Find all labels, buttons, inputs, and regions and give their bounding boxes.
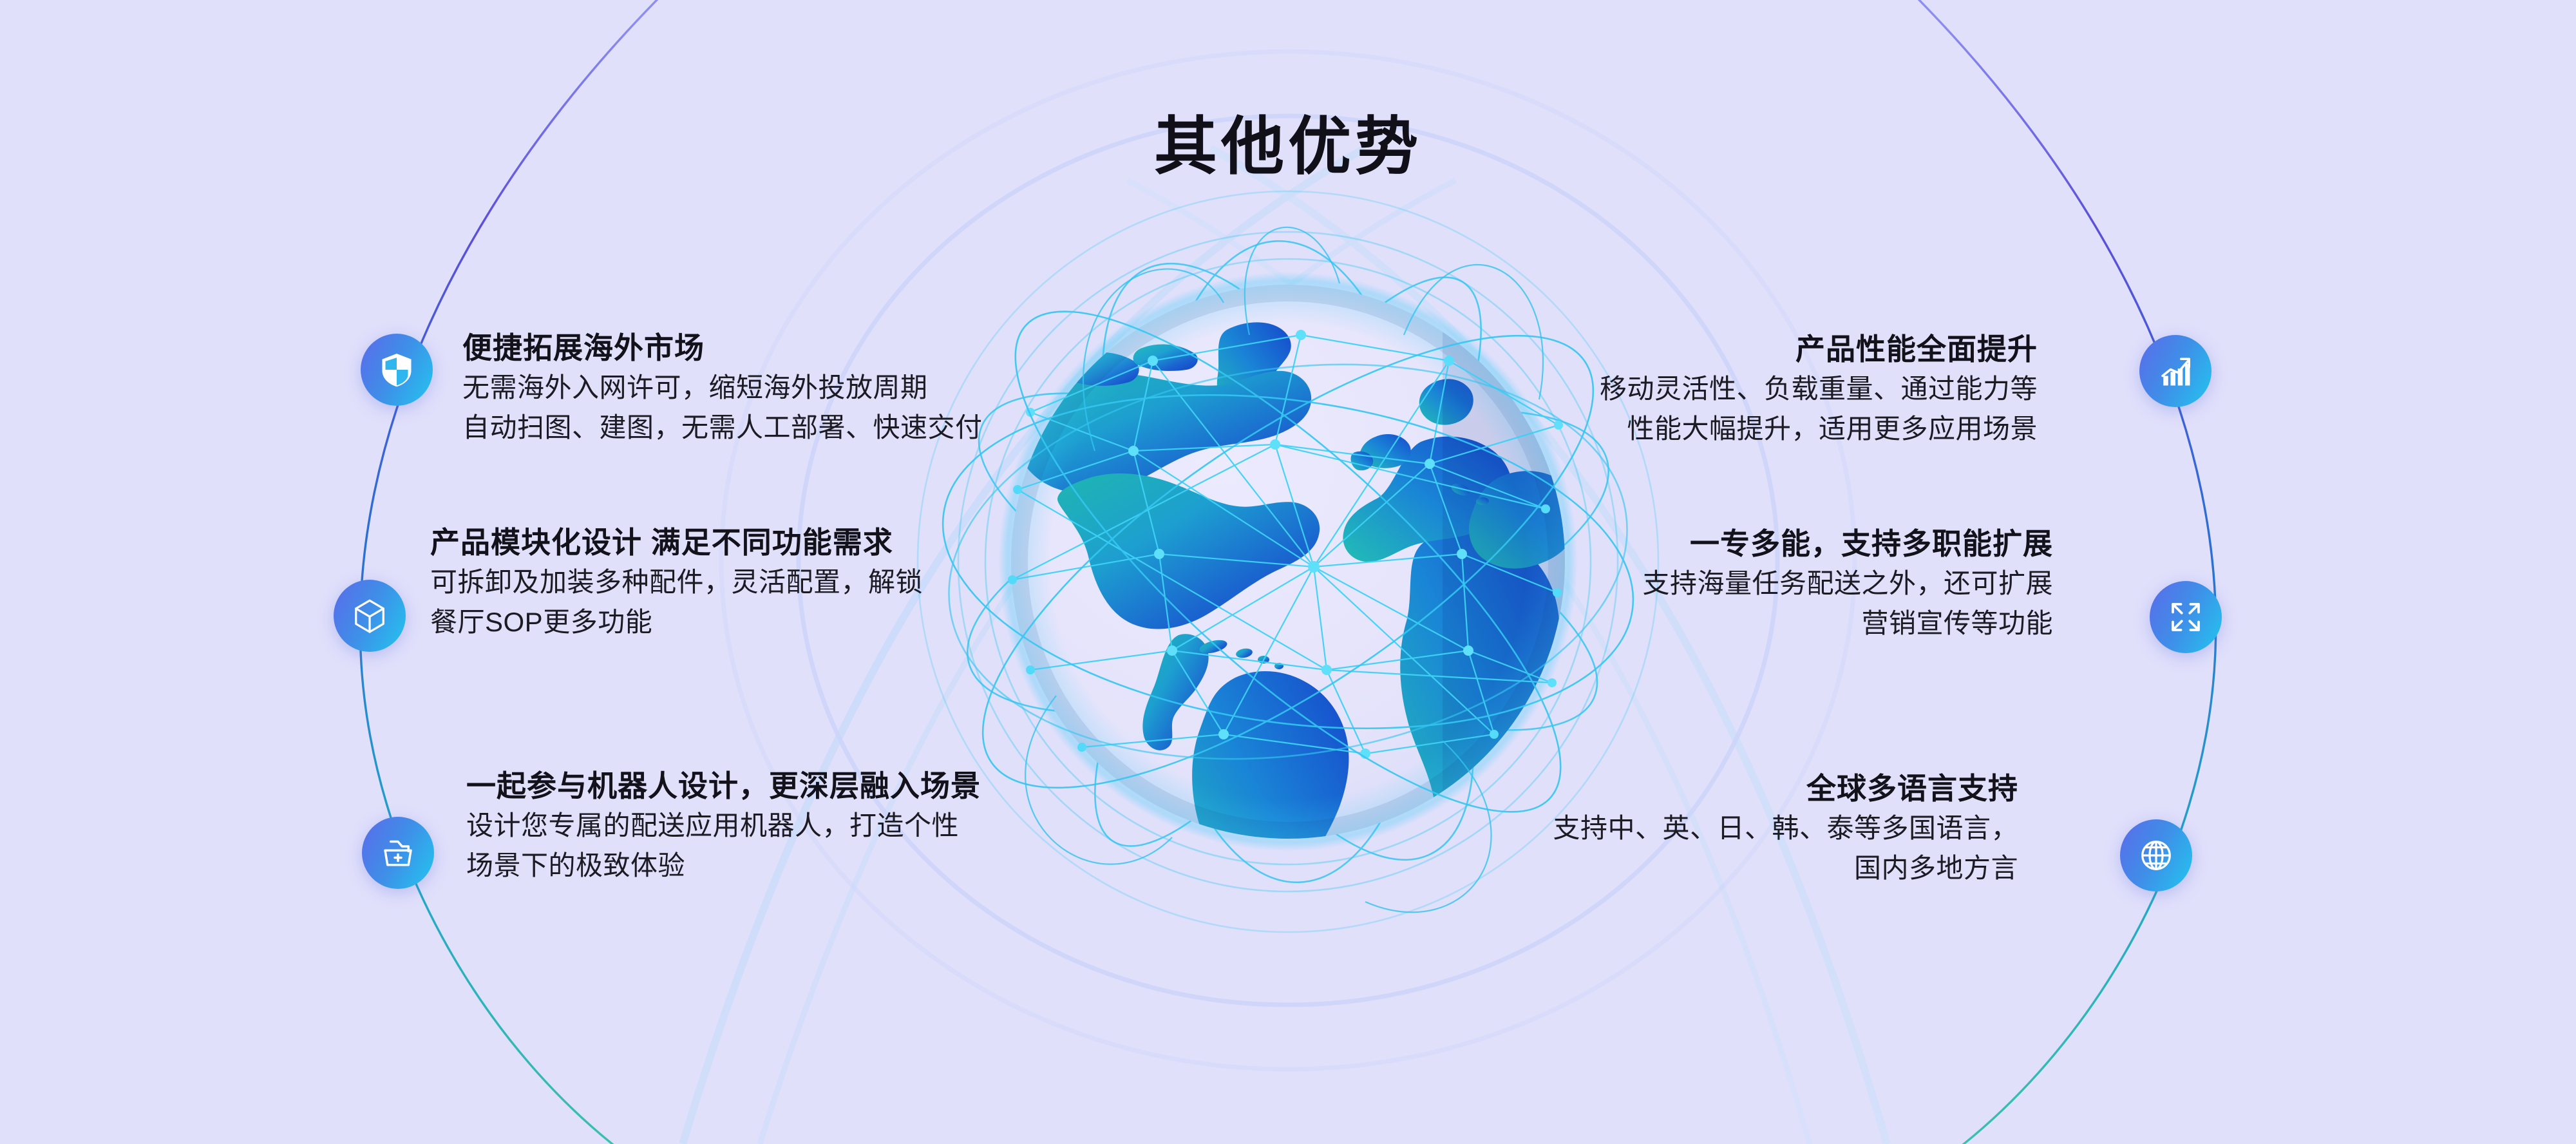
- feature-heading: 产品性能全面提升: [1329, 330, 2038, 369]
- feature-text-block: 便捷拓展海外市场 无需海外入网许可，缩短海外投放周期 自动扫图、建图，无需人工部…: [462, 329, 983, 448]
- feature-text-block: 产品性能全面提升 移动灵活性、负载重量、通过能力等 性能大幅提升，适用更多应用场…: [1329, 330, 2038, 449]
- feature-line-1: 设计您专属的配送应用机器人，打造个性: [466, 806, 981, 846]
- page-title: 其他优势: [0, 115, 2576, 178]
- feature-heading: 便捷拓展海外市场: [462, 329, 983, 368]
- feature-text-block: 全球多语言支持 支持中、英、日、韩、泰等多国语言， 国内多地方言: [1310, 769, 2018, 888]
- feature-text-block: 一起参与机器人设计，更深层融入场景 设计您专属的配送应用机器人，打造个性 场景下…: [466, 767, 981, 886]
- feature-line-1: 移动灵活性、负载重量、通过能力等: [1329, 369, 2038, 409]
- feature-heading: 一起参与机器人设计，更深层融入场景: [466, 767, 981, 806]
- feature-line-2: 性能大幅提升，适用更多应用场景: [1329, 409, 2038, 449]
- feature-line-2: 餐厅SOP更多功能: [430, 602, 923, 642]
- cube-icon-bubble[interactable]: [334, 580, 406, 652]
- feature-line-1: 可拆卸及加装多种配件，灵活配置，解锁: [430, 562, 923, 602]
- feature-line-1: 无需海外入网许可，缩短海外投放周期: [462, 368, 983, 408]
- shield-icon-bubble[interactable]: [361, 334, 433, 406]
- feature-text-block: 产品模块化设计 满足不同功能需求 可拆卸及加装多种配件，灵活配置，解锁 餐厅SO…: [430, 523, 923, 642]
- expand-arrows-icon: [2166, 598, 2205, 636]
- infographic-canvas: 其他优势 便捷拓展海外市场 无需海外入网许可，缩短海外投放周期 自动扫图、建图，…: [0, 0, 2576, 1144]
- shield-icon: [377, 350, 416, 389]
- folder-plus-icon-bubble[interactable]: [362, 817, 434, 889]
- feature-line-1: 支持中、英、日、韩、泰等多国语言，: [1310, 808, 2018, 848]
- feature-line-2: 营销宣传等功能: [1345, 604, 2053, 643]
- feature-heading: 全球多语言支持: [1310, 769, 2018, 808]
- chart-growth-icon-bubble[interactable]: [2139, 335, 2211, 407]
- expand-arrows-icon-bubble[interactable]: [2150, 581, 2222, 653]
- chart-growth-icon: [2156, 352, 2195, 390]
- feature-text-block: 一专多能，支持多职能扩展 支持海量任务配送之外，还可扩展 营销宣传等功能: [1345, 524, 2053, 643]
- globe-icon: [2137, 836, 2175, 875]
- globe-icon-bubble[interactable]: [2120, 819, 2192, 891]
- cube-icon: [350, 596, 389, 635]
- feature-heading: 产品模块化设计 满足不同功能需求: [430, 523, 923, 562]
- feature-line-2: 国内多地方言: [1310, 848, 2018, 888]
- feature-heading: 一专多能，支持多职能扩展: [1345, 524, 2053, 564]
- feature-line-1: 支持海量任务配送之外，还可扩展: [1345, 564, 2053, 604]
- folder-plus-icon: [379, 834, 417, 872]
- feature-line-2: 场景下的极致体验: [466, 846, 981, 886]
- feature-line-2: 自动扫图、建图，无需人工部署、快速交付: [462, 408, 983, 448]
